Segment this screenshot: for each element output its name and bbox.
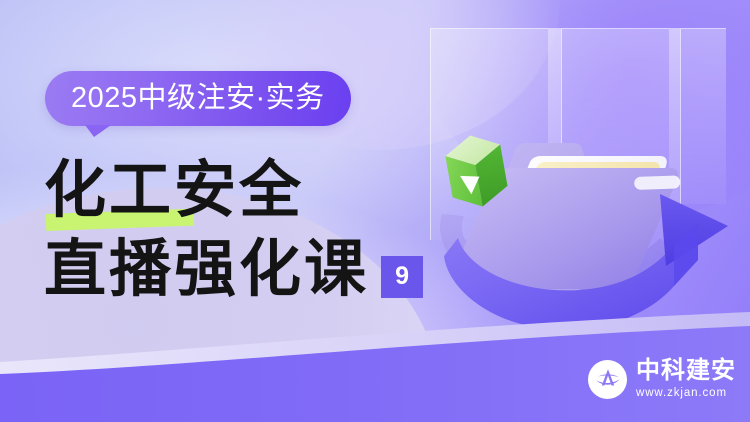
- brand-logo-text: 中科建安 www.zkjan.com: [636, 358, 736, 400]
- title-line-1-wrap: 化工安全: [44, 158, 304, 225]
- bubble-tail: [85, 125, 111, 137]
- brand-name: 中科建安: [636, 358, 736, 383]
- page-title: 化工安全 直播强化课 9: [44, 158, 464, 304]
- title-line-2-wrap: 直播强化课 9: [44, 237, 464, 304]
- brand-logo[interactable]: 中科建安 www.zkjan.com: [588, 358, 736, 400]
- title-line-2: 直播强化课: [44, 237, 369, 304]
- course-promo-banner: 2025中级注安·实务 化工安全 直播强化课 9 中科建安 www.zkj: [0, 0, 750, 422]
- brand-url: www.zkjan.com: [636, 386, 736, 400]
- course-tagline-bubble: 2025中级注安·实务: [45, 71, 351, 126]
- episode-badge-number: 9: [395, 264, 409, 289]
- course-tagline-text: 2025中级注安·实务: [71, 84, 325, 113]
- title-line-1: 化工安全: [44, 158, 304, 225]
- zkjan-monogram-icon: [588, 360, 627, 399]
- episode-badge: 9: [381, 256, 423, 298]
